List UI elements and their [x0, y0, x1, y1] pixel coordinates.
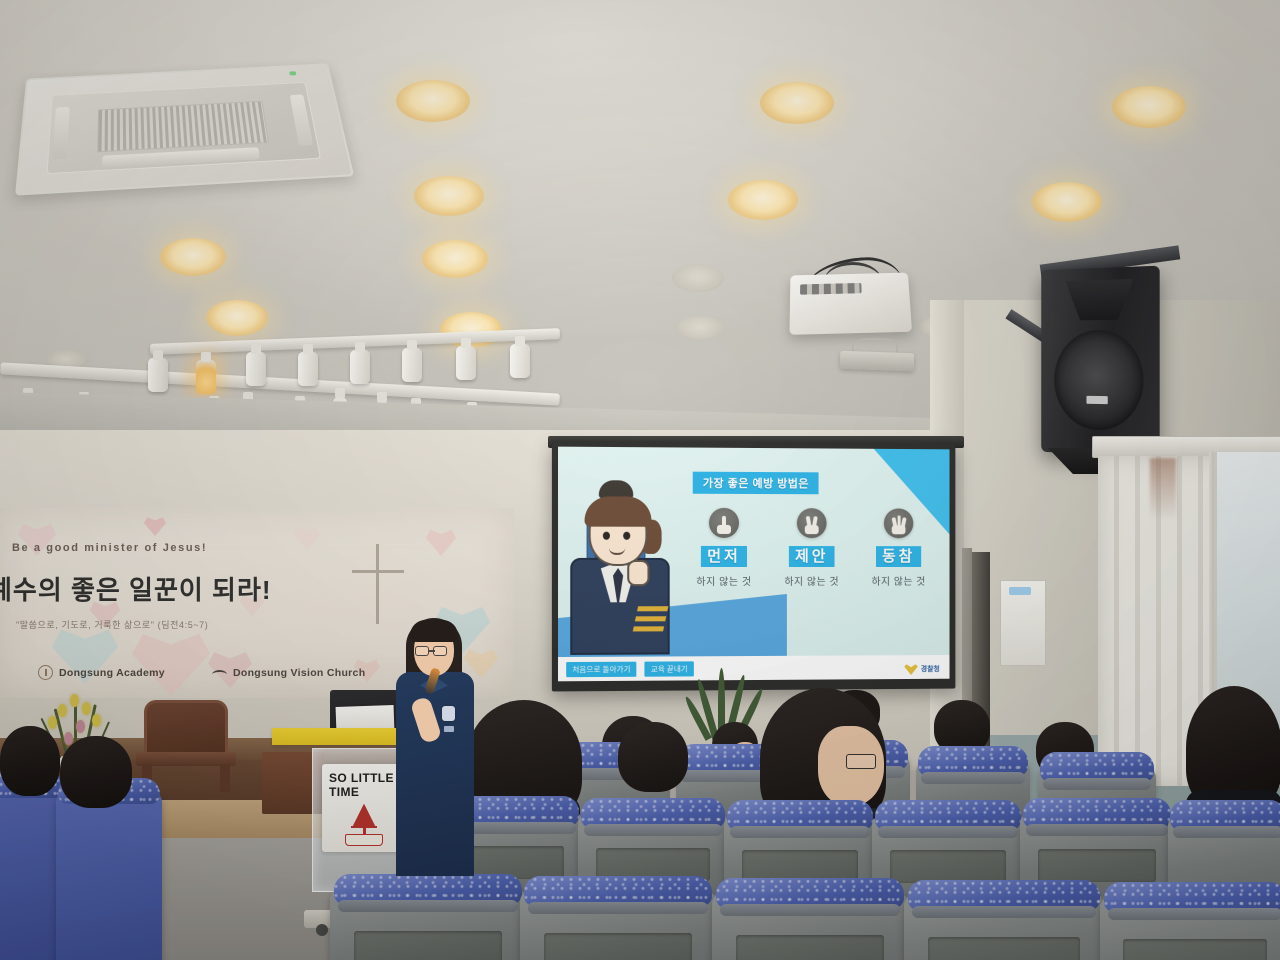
loudspeaker-icon [1041, 266, 1159, 457]
presenter-speaker [392, 614, 478, 876]
auditorium-seat[interactable] [904, 880, 1104, 960]
police-agency-logo: 경찰청 [904, 663, 940, 675]
auditorium-photo: Be a good minister of Jesus! 예수의 좋은 일꾼이 … [0, 0, 1280, 960]
air-conditioner-icon [15, 63, 354, 195]
three-finger-hand-icon [884, 508, 913, 538]
student [0, 726, 60, 796]
slide-column-1: 먼저 하지 않는 것 [680, 508, 768, 589]
spotlight-icon [298, 352, 318, 386]
lectern-sign: SO LITTLE TIME [322, 764, 406, 852]
ceiling-downlight [160, 238, 226, 276]
ceiling-downlight [676, 316, 724, 340]
ceiling-downlight [672, 264, 724, 292]
cross-icon [376, 544, 379, 624]
student [1186, 686, 1280, 810]
uniform-badge [442, 706, 455, 721]
banner-logo-church: Dongsung Vision Church [212, 665, 365, 680]
ceiling-mount-plate [840, 351, 915, 372]
dongsung-academy-seal-icon [38, 665, 53, 680]
one-finger-hand-icon [709, 508, 739, 538]
auditorium-seat[interactable] [520, 876, 716, 960]
eyeglasses-icon [415, 646, 429, 656]
spotlight-icon [456, 346, 476, 380]
ceiling-downlight [1112, 86, 1186, 128]
slide-column-2: 제안 하지 않는 것 [768, 508, 855, 588]
banner-logo-academy: Dongsung Academy [38, 665, 165, 680]
cross-and-bread-emblem-icon [341, 804, 387, 846]
column-keyword: 먼저 [701, 546, 747, 567]
academy-label: Dongsung Academy [59, 667, 165, 679]
slide-pill-restart[interactable]: 처음으로 돌아가기 [566, 661, 636, 677]
projection-screen: 가장 좋은 예방 방법은 [552, 441, 956, 692]
spotlight-icon [510, 344, 530, 378]
ceiling-downlight [728, 180, 798, 220]
slide-columns: 먼저 하지 않는 것 제안 하지 않는 것 [680, 508, 942, 589]
church-label: Dongsung Vision Church [233, 667, 365, 679]
ceiling-downlight [1032, 182, 1102, 222]
dongsung-church-arch-icon [212, 665, 227, 680]
police-eagle-icon [904, 663, 918, 675]
auditorium-seat[interactable] [330, 874, 526, 960]
two-finger-hand-icon [797, 508, 827, 538]
ceiling-downlight [422, 240, 488, 278]
female-officer-illustration [564, 501, 676, 653]
slide-pill-finish[interactable]: 교육 끝내기 [645, 661, 694, 676]
slide-column-3: 동참 하지 않는 것 [855, 508, 941, 588]
ceiling-downlight [760, 82, 834, 124]
column-keyword: 동참 [876, 546, 921, 567]
police-agency-label: 경찰청 [921, 664, 940, 674]
column-keyword: 제안 [789, 546, 834, 567]
column-subtitle: 하지 않는 것 [680, 573, 768, 588]
spotlight-icon [196, 360, 216, 394]
auditorium-seat[interactable] [1100, 882, 1280, 960]
two-police-officers-cartoon [564, 479, 682, 653]
spotlight-icon [246, 352, 266, 386]
banner-english-line: Be a good minister of Jesus! [12, 542, 207, 554]
spotlight-icon [350, 350, 370, 384]
spotlight-icon [148, 358, 168, 392]
student [618, 722, 688, 792]
column-subtitle: 하지 않는 것 [855, 573, 941, 588]
ceiling-downlight [396, 80, 470, 122]
ceiling-downlight [206, 300, 268, 336]
banner-korean-line: 예수의 좋은 일꾼이 되라! [0, 570, 272, 607]
slide-title: 가장 좋은 예방 방법은 [693, 472, 819, 495]
auditorium-seat[interactable] [712, 878, 908, 960]
projector-icon [789, 273, 912, 335]
wall-stain [1150, 458, 1176, 520]
banner-verse-line: "말씀으로, 기도로, 거룩한 삶으로" (딤전4:5~7) [16, 618, 208, 631]
slide-canvas: 가장 좋은 예방 방법은 [558, 447, 950, 682]
lectern-sign-line1: SO LITTLE [329, 772, 394, 786]
lectern-sign-line2: TIME [329, 786, 359, 800]
ceiling-downlight [414, 176, 484, 216]
column-subtitle: 하지 않는 것 [768, 573, 855, 588]
spotlight-icon [402, 348, 422, 382]
eyeglasses-icon [433, 646, 447, 656]
wall-notice-sheet [1000, 580, 1046, 666]
student [60, 736, 132, 808]
